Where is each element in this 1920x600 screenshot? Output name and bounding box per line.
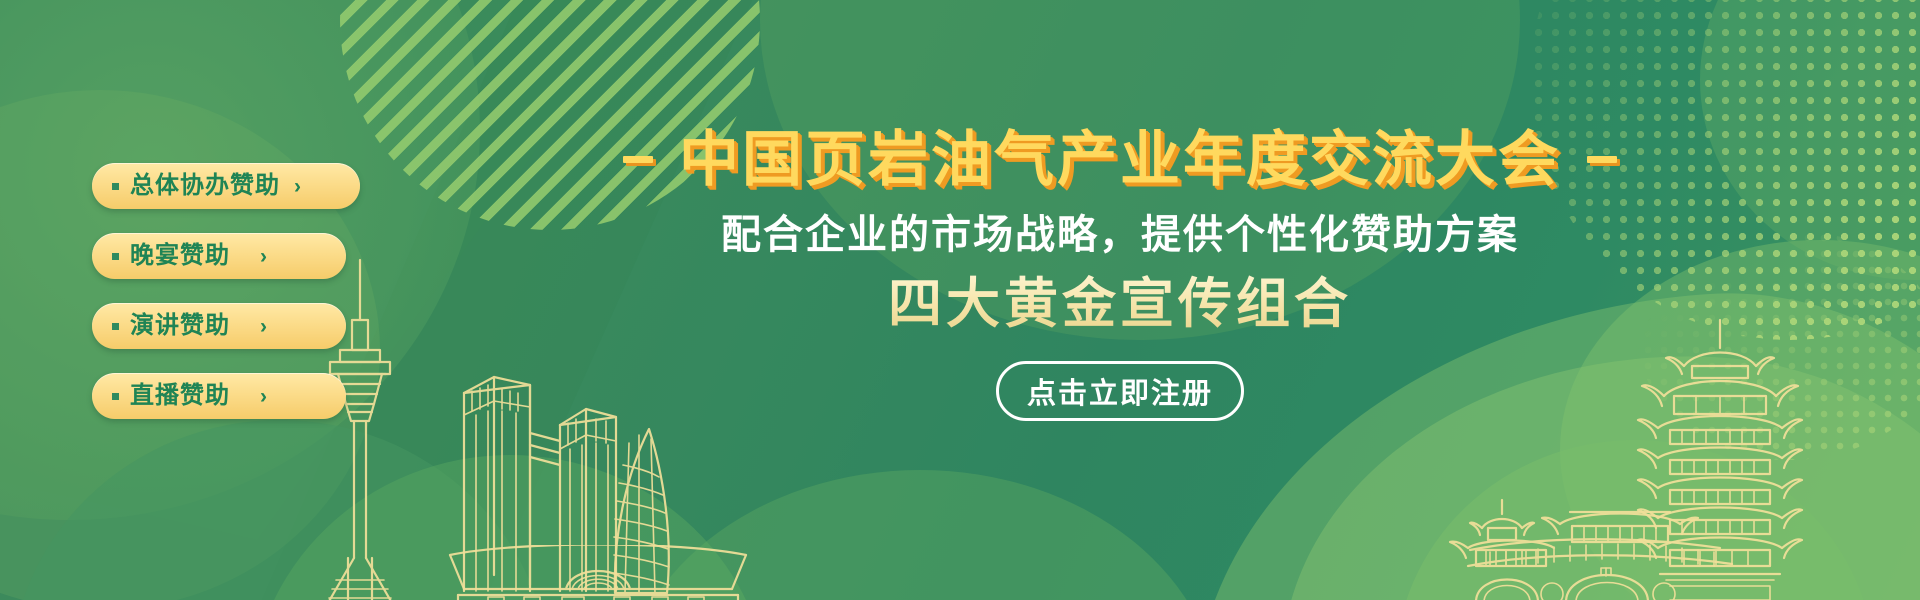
- dash-decoration-left-icon: [623, 156, 653, 163]
- square-bullet-icon: [112, 323, 119, 330]
- cta-container: 点击立即注册: [530, 361, 1710, 421]
- bud-tower-lineart-icon: [605, 425, 685, 600]
- sponsor-button-overall-cosponsor[interactable]: 总体协办赞助 ›: [92, 163, 360, 209]
- sponsorship-banner: 总体协办赞助 › 晚宴赞助 › 演讲赞助 › 直播赞助 › 中国页岩油气产业年度…: [0, 0, 1920, 600]
- chevron-right-icon: ›: [260, 316, 267, 337]
- subtitle-text: 配合企业的市场战略，提供个性化赞助方案: [530, 211, 1710, 259]
- covered-bridge-lineart-icon: [1420, 490, 1750, 600]
- sponsor-button-speech[interactable]: 演讲赞助 ›: [92, 303, 346, 349]
- chevron-right-icon: ›: [260, 386, 267, 407]
- page-title: 中国页岩油气产业年度交流大会: [679, 128, 1561, 191]
- background-blob-bottom-center: [620, 470, 1220, 600]
- sponsor-button-label: 演讲赞助: [130, 314, 230, 338]
- chevron-right-icon: ›: [260, 246, 267, 267]
- main-title-row: 中国页岩油气产业年度交流大会: [530, 128, 1710, 191]
- exhibition-hall-lineart-icon: [448, 545, 748, 600]
- square-bullet-icon: [112, 253, 119, 260]
- headline-block: 中国页岩油气产业年度交流大会 配合企业的市场战略，提供个性化赞助方案 四大黄金宣…: [530, 128, 1710, 421]
- background-blob-bottom-left: [10, 420, 550, 600]
- background-blob-bottom-right: [1395, 440, 1875, 600]
- background-blob-top-right: [1700, 0, 1920, 280]
- square-bullet-icon: [112, 183, 119, 190]
- tagline-text: 四大黄金宣传组合: [530, 273, 1710, 335]
- register-now-button[interactable]: 点击立即注册: [996, 361, 1244, 421]
- square-bullet-icon: [112, 393, 119, 400]
- sponsor-menu: 总体协办赞助 › 晚宴赞助 › 演讲赞助 › 直播赞助 ›: [92, 163, 360, 419]
- sponsor-button-dinner[interactable]: 晚宴赞助 ›: [92, 233, 346, 279]
- dash-decoration-right-icon: [1587, 156, 1617, 163]
- sponsor-button-livestream[interactable]: 直播赞助 ›: [92, 373, 346, 419]
- sponsor-button-label: 总体协办赞助: [130, 174, 280, 198]
- sponsor-button-label: 晚宴赞助: [130, 244, 230, 268]
- background-blob-bottom-left-second: [250, 455, 770, 600]
- chevron-right-icon: ›: [294, 176, 301, 197]
- sponsor-button-label: 直播赞助: [130, 384, 230, 408]
